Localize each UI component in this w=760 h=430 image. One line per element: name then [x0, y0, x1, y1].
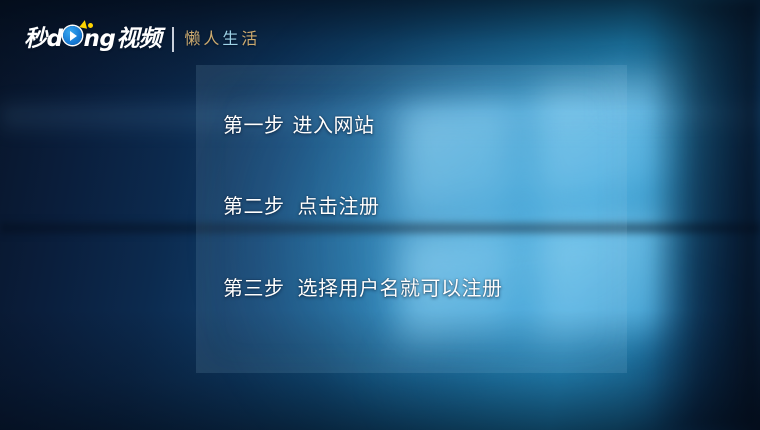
step-2-label: 第二步	[223, 194, 285, 218]
step-item-2: 第二步点击注册	[223, 196, 380, 216]
step-1-action: 进入网站	[293, 113, 375, 137]
brand-divider	[172, 27, 174, 52]
tagline-char-1: 懒	[184, 31, 203, 47]
step-2-action: 点击注册	[298, 194, 380, 218]
step-1-label: 第一步	[223, 113, 285, 137]
brand-letters-ng: ng	[83, 28, 115, 51]
brand-char-miao: 秒	[24, 28, 47, 51]
tagline-char-4: 活	[241, 31, 260, 47]
brand-watermark: 秒dng视频 懒人生活	[24, 22, 260, 56]
step-3-label: 第三步	[223, 276, 285, 300]
brand-logo: 秒dng视频	[24, 27, 161, 51]
steps-list: 第一步进入网站 第二步点击注册 第三步选择用户名就可以注册	[196, 65, 627, 373]
play-circle-icon	[63, 26, 82, 45]
brand-letter-d: d	[47, 28, 63, 51]
tagline-char-2: 人	[203, 31, 222, 47]
spark-dot-icon	[88, 23, 93, 28]
step-item-1: 第一步进入网站	[223, 115, 375, 135]
brand-tagline: 懒人生活	[184, 31, 260, 47]
brand-chars-shipin: 视频	[116, 28, 161, 51]
tutorial-slide: 第一步进入网站 第二步点击注册 第三步选择用户名就可以注册 秒dng视频 懒人生…	[0, 0, 760, 430]
background-right-vignette	[648, 0, 760, 430]
step-item-3: 第三步选择用户名就可以注册	[223, 278, 503, 298]
step-3-action: 选择用户名就可以注册	[298, 276, 503, 300]
tagline-char-3: 生	[222, 31, 241, 47]
